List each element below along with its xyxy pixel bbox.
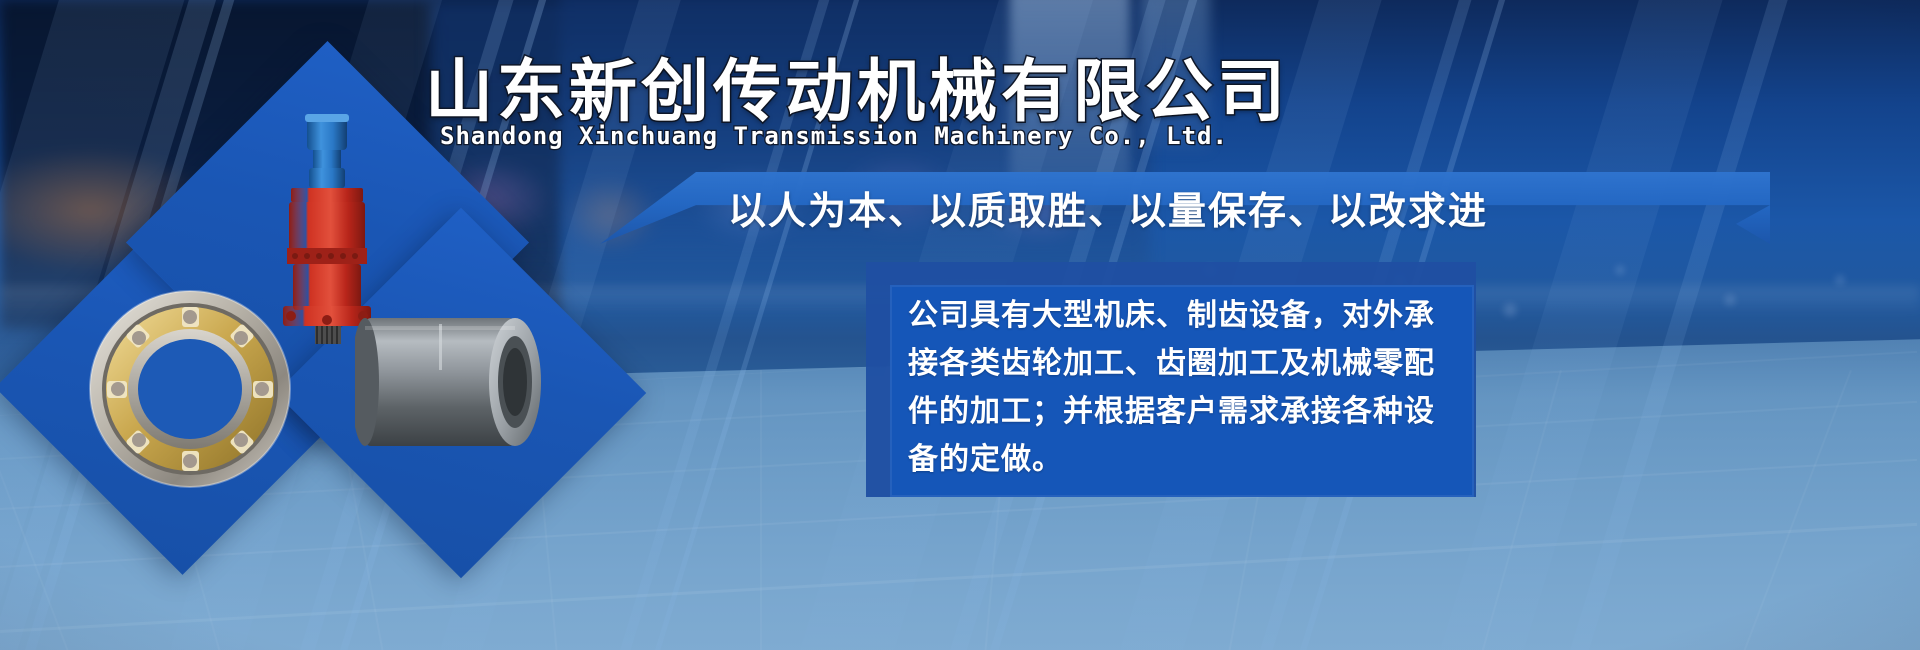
cylindrical-roller-bearing-image <box>85 285 295 490</box>
spline-gear-shaft-image <box>355 300 570 470</box>
company-banner: 山东新创传动机械有限公司 Shandong Xinchuang Transmis… <box>0 0 1920 650</box>
slogan-text: 以人为本、以质取胜、以量保存、以改求进 <box>728 180 1488 235</box>
description-text: 公司具有大型机床、制齿设备，对外承接各类齿轮加工、齿圈加工及机械零配件的加工；并… <box>908 292 1464 484</box>
company-name-en: Shandong Xinchuang Transmission Machiner… <box>440 122 1228 150</box>
company-name-cn: 山东新创传动机械有限公司 <box>425 36 1289 135</box>
